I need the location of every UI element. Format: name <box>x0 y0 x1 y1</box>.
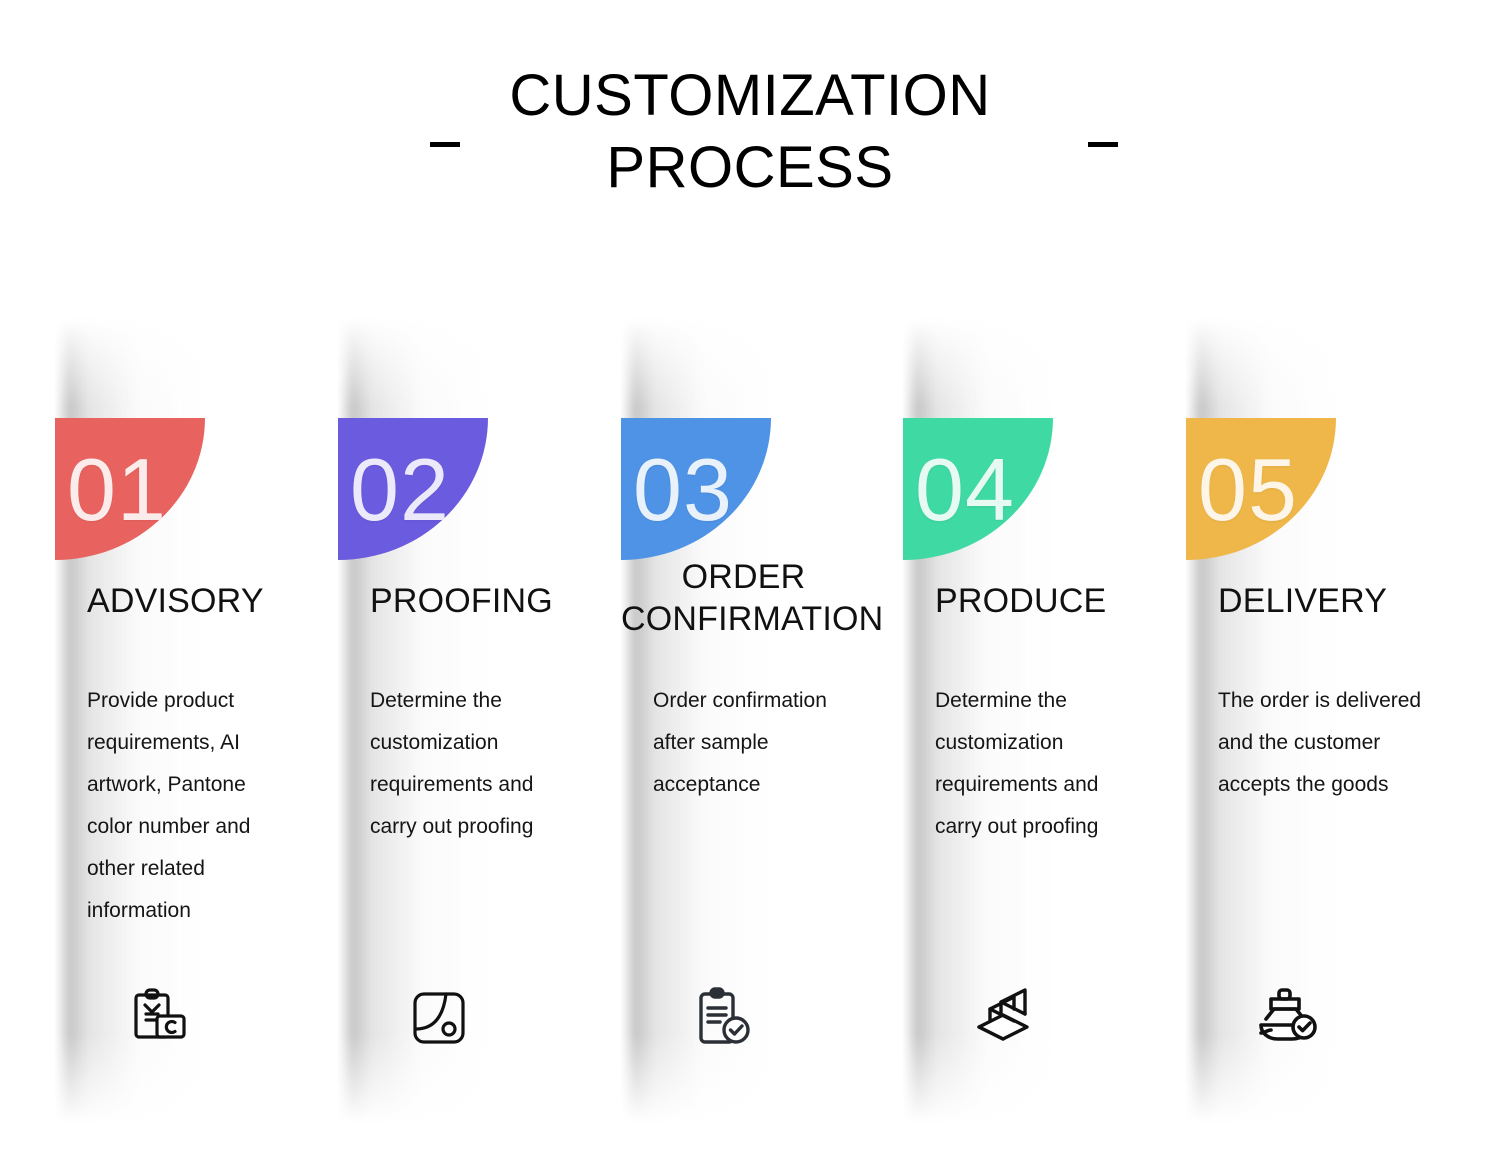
step-description: The order is delivered and the customer … <box>1218 680 1428 806</box>
process-step-card: 04PRODUCEDetermine the customization req… <box>903 318 1148 1123</box>
step-title: PRODUCE <box>903 580 1148 622</box>
step-title: DELIVERY <box>1186 580 1431 622</box>
process-step-card: 02PROOFINGDetermine the customization re… <box>338 318 583 1123</box>
step-title: PROOFING <box>338 580 583 622</box>
infographic-canvas: CUSTOMIZATION PROCESS 01ADVISORYProvide … <box>0 0 1500 1150</box>
step-description: Order confirmation after sample acceptan… <box>653 680 863 806</box>
step-number: 03 <box>633 420 733 560</box>
step-number: 01 <box>67 420 167 560</box>
step-number: 04 <box>915 420 1015 560</box>
process-steps: 01ADVISORYProvide product requirements, … <box>0 0 1500 1150</box>
step-description: Determine the customization requirements… <box>935 680 1145 848</box>
clipboard-check-icon <box>687 983 757 1053</box>
process-step-card: 05DELIVERYThe order is delivered and the… <box>1186 318 1431 1123</box>
clipboard-price-card-icon <box>121 983 191 1053</box>
process-step-card: 01ADVISORYProvide product requirements, … <box>55 318 300 1123</box>
cargo-ship-check-icon <box>1252 983 1322 1053</box>
step-description: Determine the customization requirements… <box>370 680 580 848</box>
process-step-card: 03ORDER CONFIRMATIONOrder confirmation a… <box>621 318 866 1123</box>
step-number: 02 <box>350 420 450 560</box>
stacked-sheets-icon <box>969 983 1039 1053</box>
step-title: ORDER CONFIRMATION <box>621 556 866 640</box>
step-number: 05 <box>1198 420 1298 560</box>
artwork-image-icon <box>404 983 474 1053</box>
step-description: Provide product requirements, AI artwork… <box>87 680 297 932</box>
step-title: ADVISORY <box>55 580 300 622</box>
